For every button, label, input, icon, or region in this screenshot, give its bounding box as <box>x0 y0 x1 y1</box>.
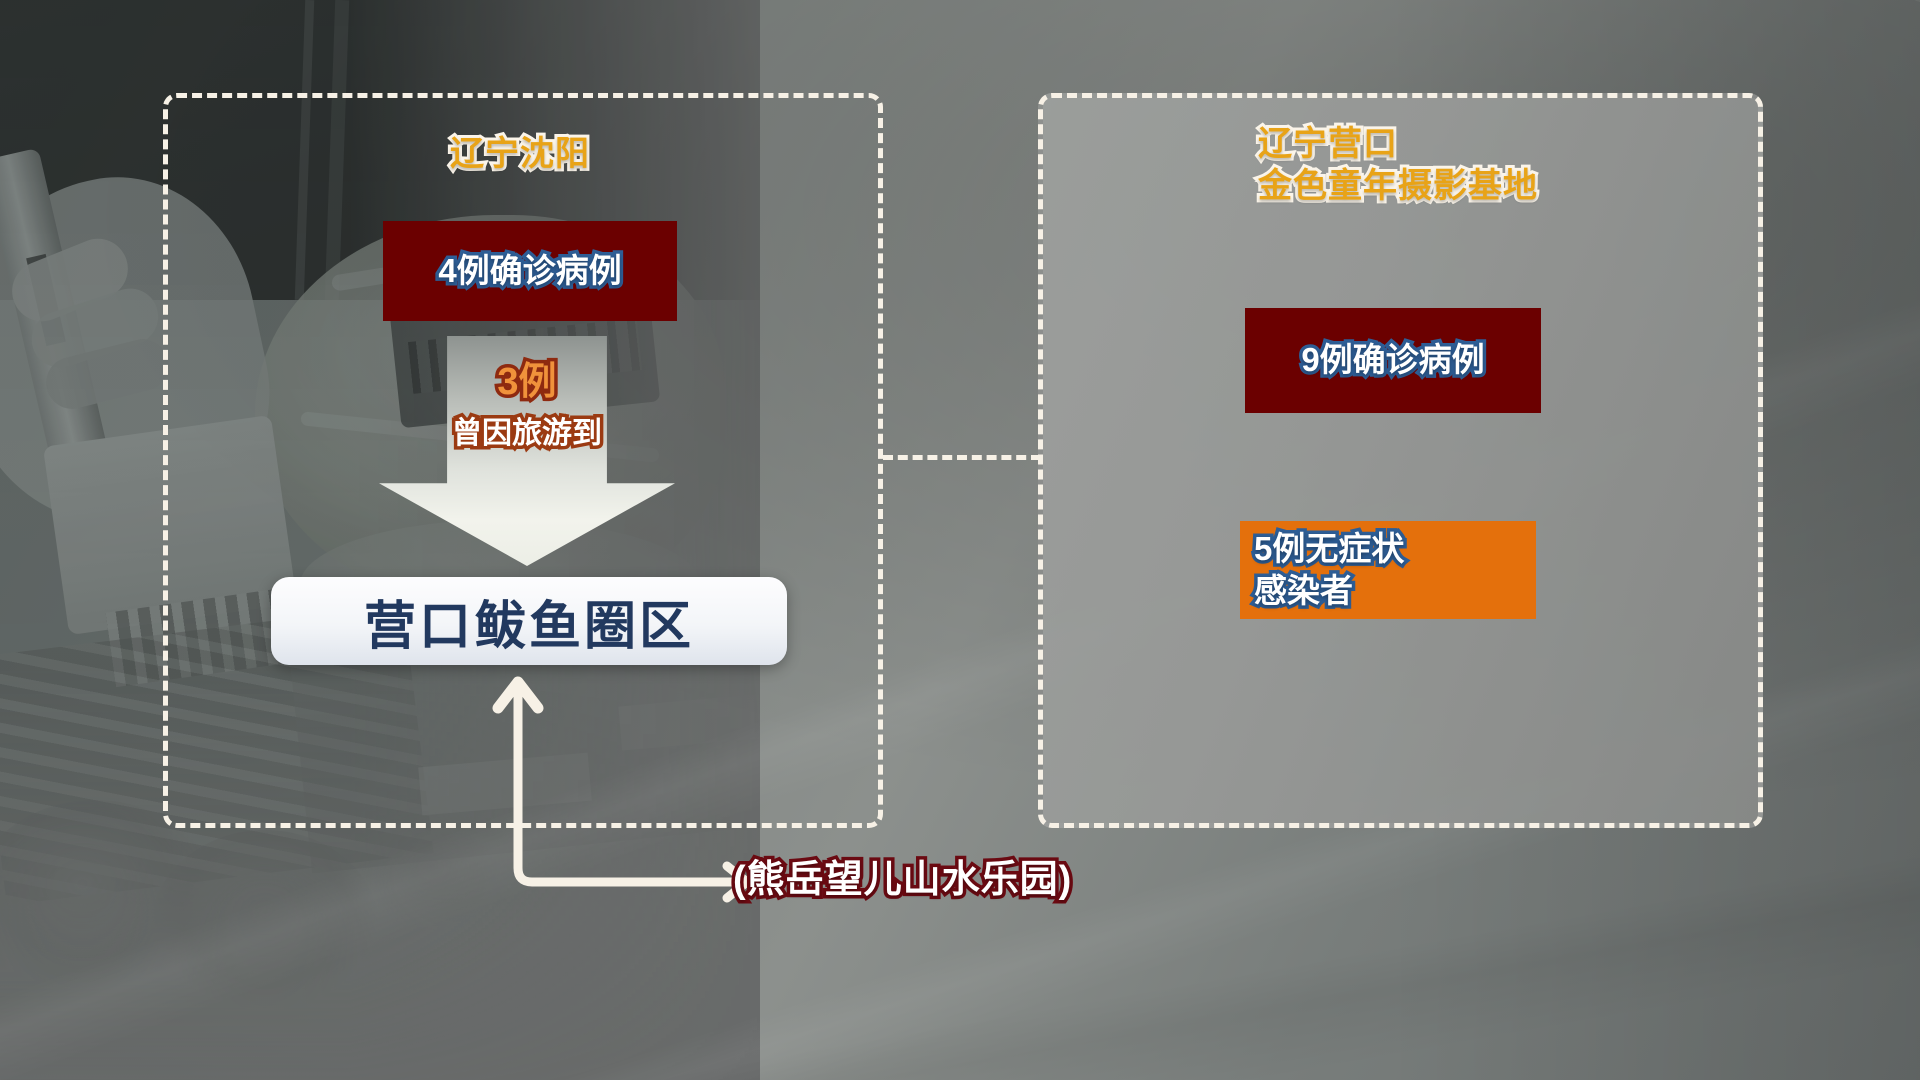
yingkou-asymptomatic-box: 5例无症状 感染者 <box>1240 521 1536 619</box>
bottom-note-label: (熊岳望儿山水乐园) <box>733 848 1072 903</box>
travel-reason-label: 曾因旅游到 <box>379 408 675 452</box>
yingkou-confirmed-cases-label: 9例确诊病例 <box>1301 339 1484 381</box>
shenyang-confirmed-cases-box: 4例确诊病例 <box>383 221 677 321</box>
infographic-canvas: 辽宁沈阳 4例确诊病例 3例 曾因旅游到 营口鲅鱼圈区 (熊岳望儿山水乐园) 辽… <box>0 0 1920 1080</box>
destination-pill: 营口鲅鱼圈区 <box>271 577 787 665</box>
yingkou-asymptomatic-label: 5例无症状 感染者 <box>1254 528 1404 612</box>
shenyang-confirmed-cases-label: 4例确诊病例 <box>438 250 621 292</box>
panel-shenyang-title: 辽宁沈阳 <box>450 133 590 175</box>
travel-case-count-label: 3例 <box>379 350 675 405</box>
elbow-up-arrow-icon <box>470 660 740 920</box>
dashed-connector-icon <box>883 455 1041 460</box>
yingkou-confirmed-cases-box: 9例确诊病例 <box>1245 308 1541 413</box>
panel-yingkou-title: 辽宁营口 金色童年摄影基地 <box>1258 123 1538 207</box>
destination-label: 营口鲅鱼圈区 <box>364 584 694 659</box>
